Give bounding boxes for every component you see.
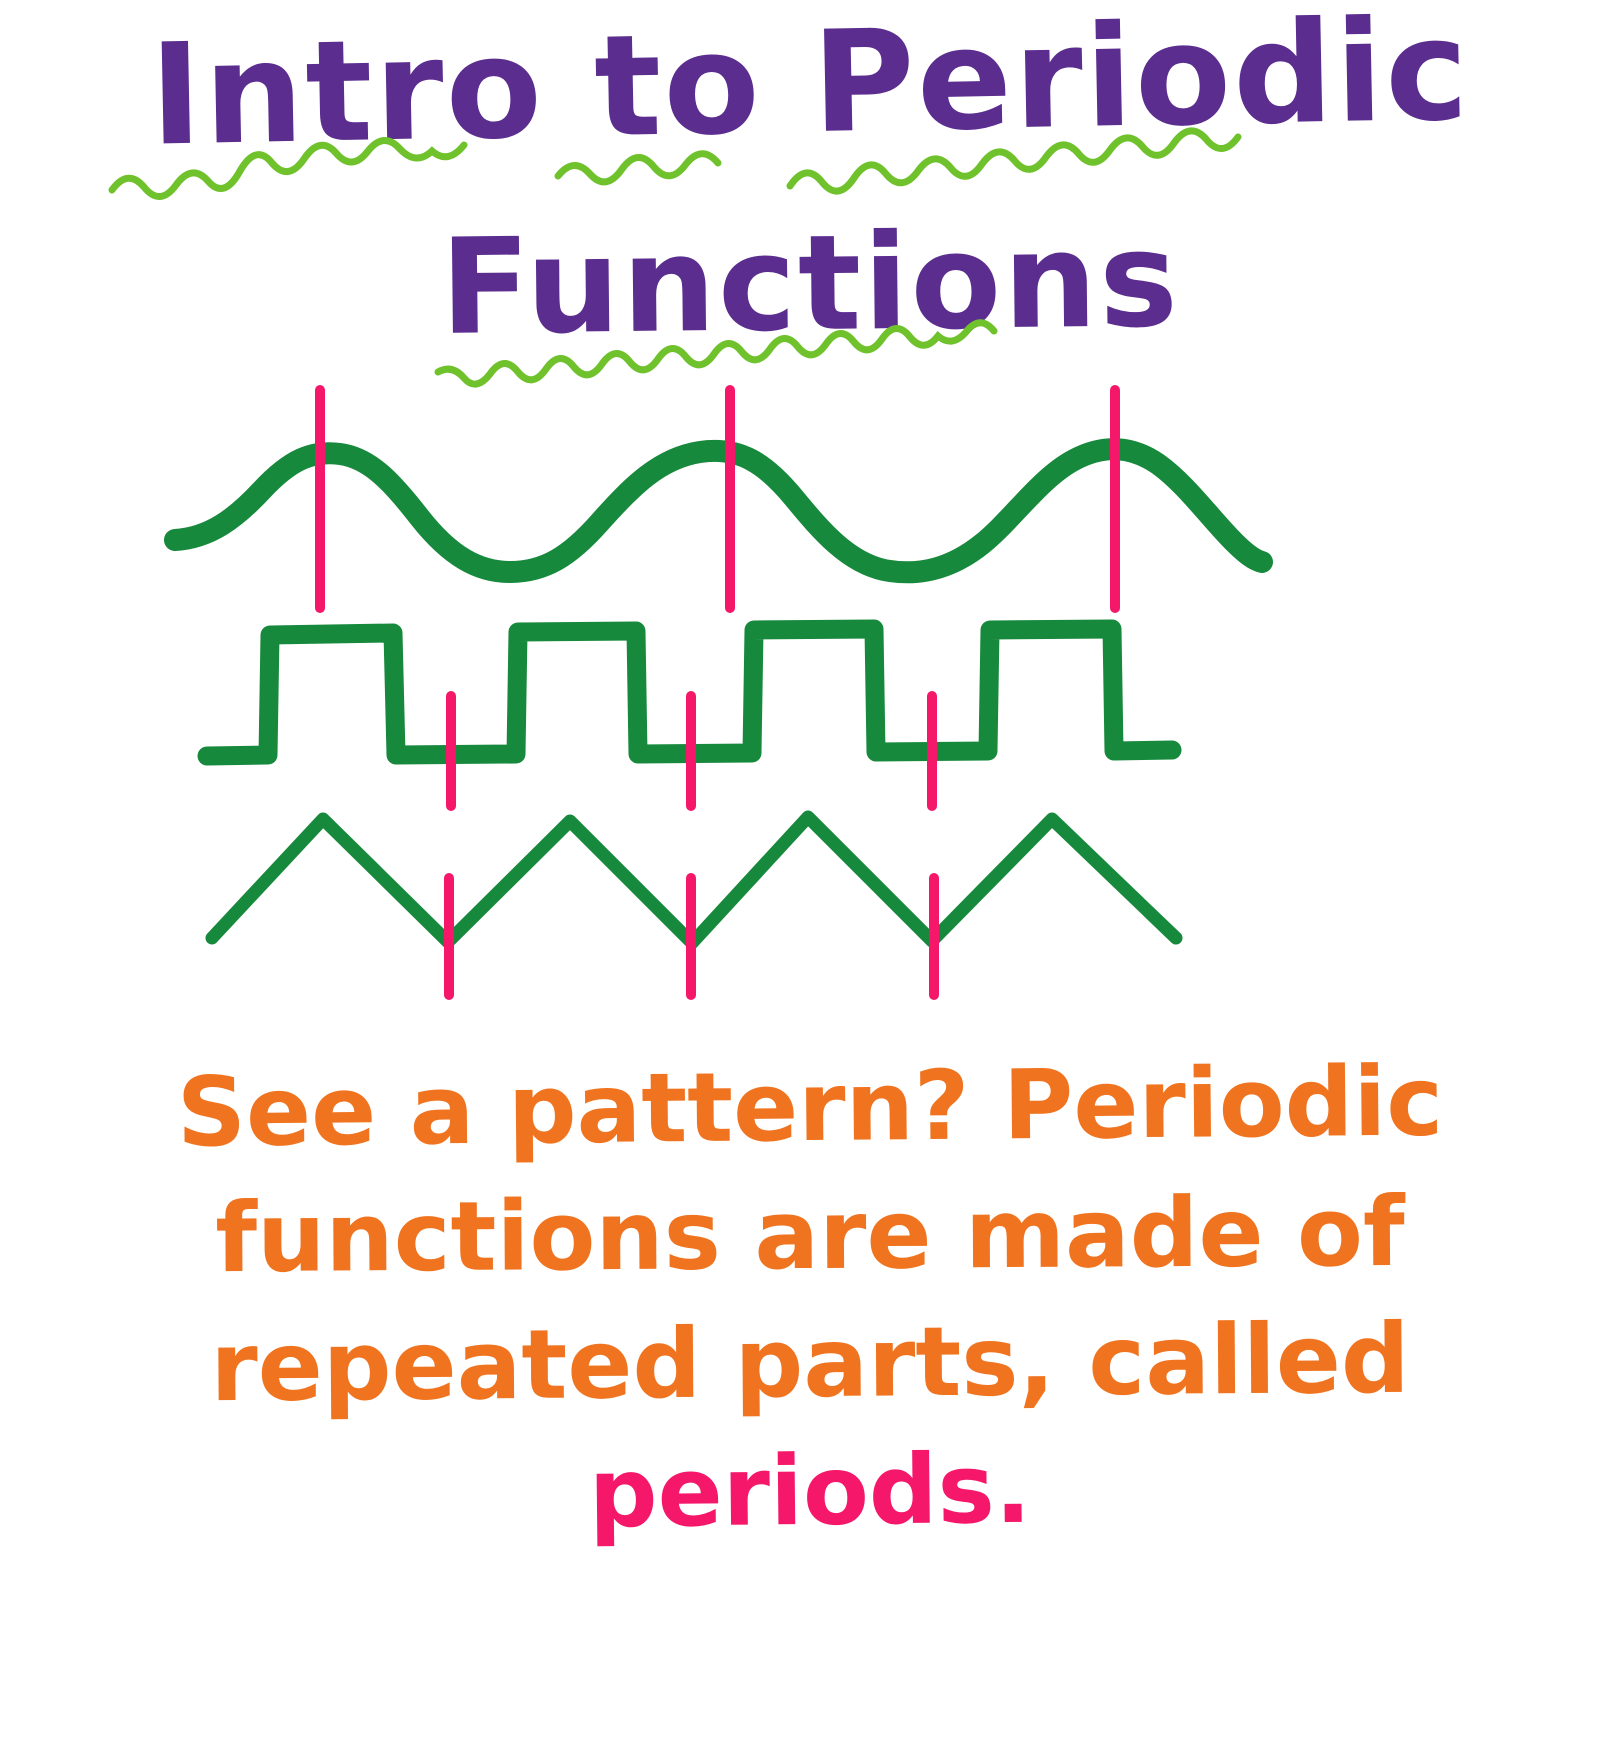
waveform-svg (0, 378, 1620, 1018)
waveform-figure (0, 378, 1620, 1018)
triangle-wave-row (212, 817, 1176, 995)
sine-wave-row (175, 390, 1262, 608)
worksheet-canvas: Intro to Periodic Functions (0, 0, 1620, 1753)
caption-block: See a pattern? Periodic functions are ma… (0, 1035, 1620, 1753)
caption-line-2: functions are made of (0, 1183, 1620, 1287)
sine-period-markers (320, 390, 1115, 608)
triangle-period-markers (449, 878, 934, 995)
title-underline-squiggles (0, 0, 1620, 400)
title-block: Intro to Periodic Functions (0, 0, 1620, 400)
caption-highlight-word: periods. (0, 1435, 1620, 1548)
caption-line-3: repeated parts, called (0, 1309, 1620, 1416)
sine-wave-path (175, 449, 1262, 572)
square-wave-row (207, 629, 1172, 806)
caption-line-1: See a pattern? Periodic (0, 1052, 1620, 1162)
